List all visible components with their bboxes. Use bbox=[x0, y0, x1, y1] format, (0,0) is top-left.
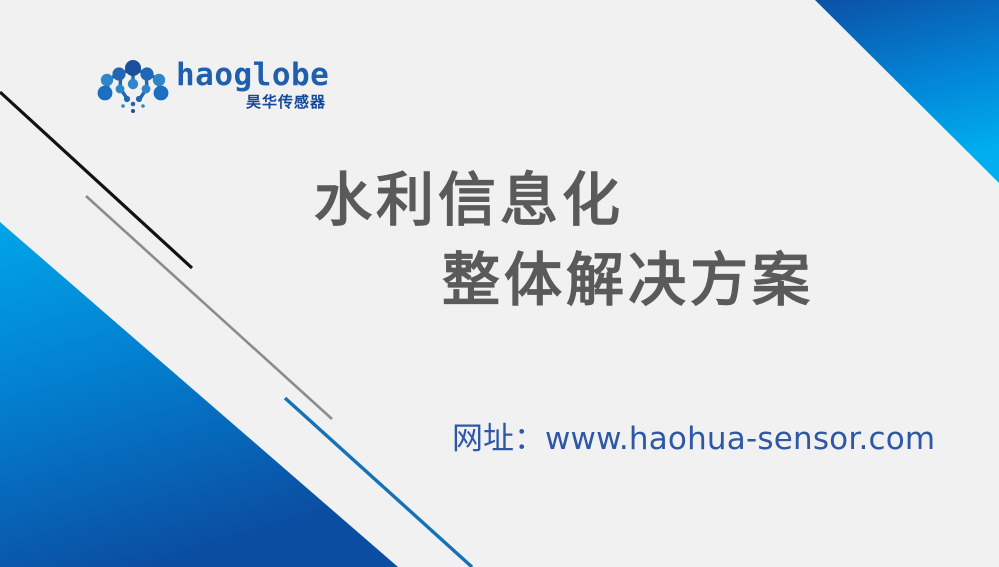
brand-wordmark: haoglobe bbox=[176, 58, 326, 92]
haoglobe-network-logo-icon bbox=[96, 60, 170, 118]
page-title: 水利信息化 整体解决方案 bbox=[300, 160, 920, 320]
top-right-blue-triangle bbox=[815, 0, 999, 183]
presentation-slide: haoglobe 昊华传感器 水利信息化 整体解决方案 网址：www.haohu… bbox=[0, 0, 999, 567]
brand-logo: haoglobe 昊华传感器 bbox=[96, 58, 326, 120]
title-line-1: 水利信息化 bbox=[300, 160, 920, 240]
brand-chinese-name: 昊华传感器 bbox=[176, 93, 326, 111]
brand-logo-text: haoglobe 昊华传感器 bbox=[176, 58, 326, 118]
website-label: 网址： bbox=[452, 421, 545, 457]
website-line: 网址：www.haohua-sensor.com bbox=[452, 419, 935, 459]
website-url[interactable]: www.haohua-sensor.com bbox=[545, 421, 935, 457]
title-line-2: 整体解决方案 bbox=[300, 240, 920, 320]
